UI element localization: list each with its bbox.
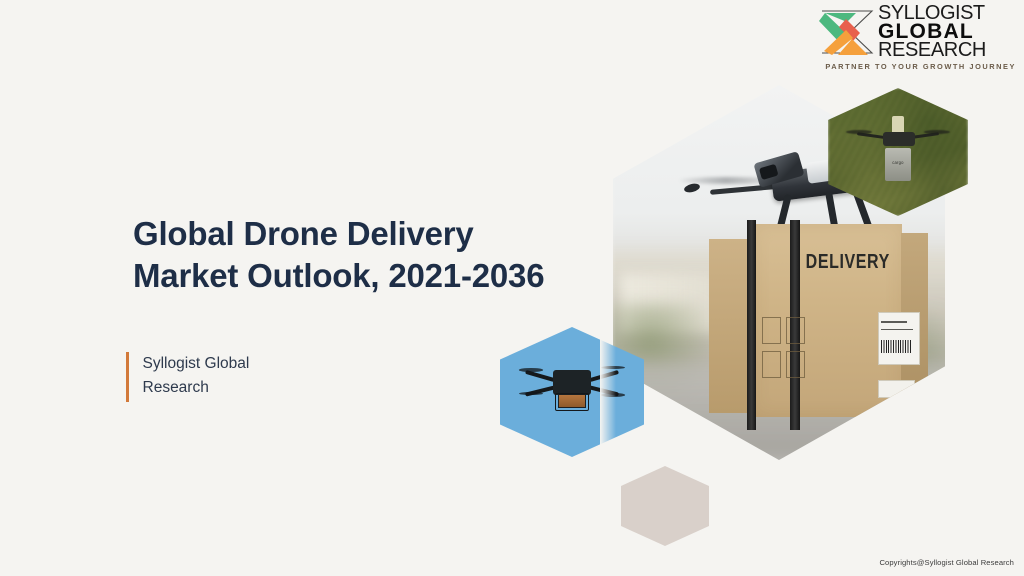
blue-drone-rotor-tl — [519, 368, 543, 372]
this-side-up-icon — [762, 317, 781, 345]
blue-drone-rotor-tr — [601, 366, 625, 370]
blue-drone-arm-tr — [589, 370, 619, 382]
logo-tagline: PARTNER TO YOUR GROWTH JOURNEY — [818, 62, 1016, 71]
box-strap-left — [747, 220, 757, 430]
title-slide: SYLLOGIST GLOBAL RESEARCH PARTNER TO YOU… — [0, 0, 1024, 576]
blue-drone-rotor-bl — [519, 392, 543, 396]
blue-drone-body — [553, 370, 592, 395]
forest-drone-package: cargo — [885, 148, 910, 181]
fragile-icon — [786, 317, 805, 345]
syllogist-logo-mark — [816, 6, 878, 58]
blue-drone-package — [558, 394, 586, 408]
shipping-label — [878, 312, 920, 365]
forest-package-label: cargo — [885, 160, 910, 165]
blue-drone-icon — [537, 361, 606, 413]
box-delivery-text: DELIVERY — [806, 251, 890, 274]
blue-drone-rotor-br — [601, 393, 625, 397]
subtitle-line-2: Research — [143, 376, 250, 400]
subtitle-accent-bar — [126, 352, 129, 402]
handling-icons — [762, 317, 806, 380]
barcode — [881, 340, 910, 353]
label-line-1 — [881, 321, 907, 322]
logo-line-research: RESEARCH — [878, 41, 1018, 59]
recycle-icon — [786, 351, 805, 379]
page-title-line-1: Global Drone Delivery — [133, 213, 603, 255]
page-title: Global Drone Delivery Market Outlook, 20… — [133, 213, 603, 297]
shipping-label-small — [878, 380, 915, 399]
delivery-box: DELIVERY — [709, 220, 928, 430]
blue-drone-arm-tl — [525, 370, 555, 382]
company-logo: SYLLOGIST GLOBAL RESEARCH PARTNER TO YOU… — [816, 6, 1016, 76]
forest-drone-body — [883, 132, 915, 146]
keep-dry-icon — [762, 351, 781, 379]
copyright-footer: Copyrights@Syllogist Global Research — [879, 558, 1014, 567]
subtitle-text: Syllogist Global Research — [143, 352, 250, 402]
label-line-2 — [881, 329, 913, 330]
subtitle-block: Syllogist Global Research — [126, 352, 249, 402]
page-title-line-2: Market Outlook, 2021-2036 — [133, 255, 603, 297]
decorative-beige-hexagon — [621, 466, 709, 546]
subtitle-line-1: Syllogist Global — [143, 352, 250, 376]
